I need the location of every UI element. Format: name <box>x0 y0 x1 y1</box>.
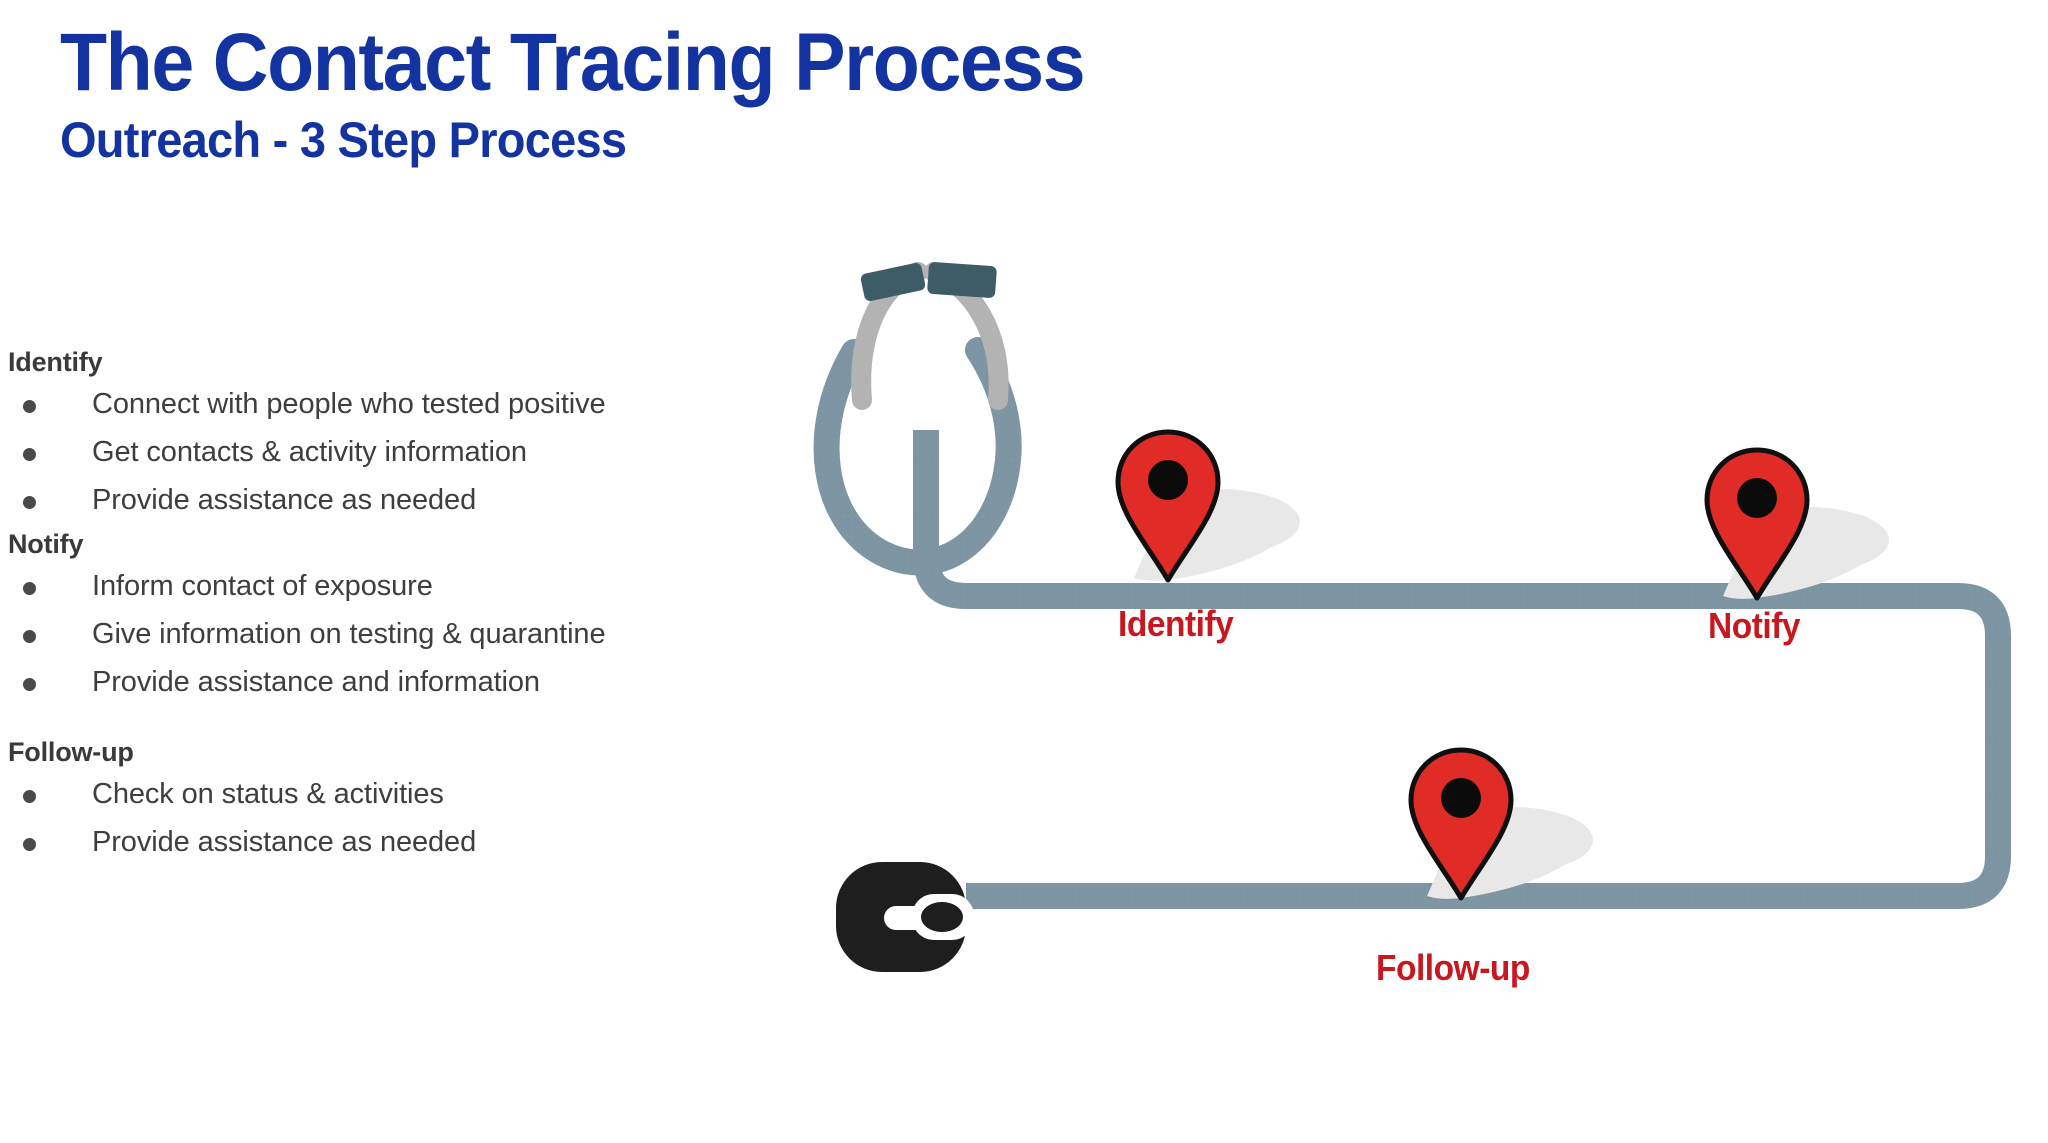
stethoscope-tube-path <box>926 430 1998 896</box>
list-item-label: Check on status & activities <box>92 773 444 816</box>
list-item: Check on status & activities <box>8 773 768 816</box>
bullet-icon <box>8 480 50 523</box>
map-pin-notify[interactable] <box>1707 450 1889 599</box>
step-heading-notify: Notify <box>8 527 768 561</box>
page-subtitle: Outreach - 3 Step Process <box>60 112 1470 168</box>
step-heading-follow-up: Follow-up <box>8 735 768 769</box>
marker-label-notify: Notify <box>1708 606 1800 646</box>
bullet-icon <box>8 566 50 609</box>
step-group-notify: Notify Inform contact of exposure Give i… <box>8 527 768 704</box>
list-item-label: Inform contact of exposure <box>92 565 433 608</box>
list-item-label: Give information on testing & quarantine <box>92 613 605 656</box>
map-pin-follow-up[interactable] <box>1411 750 1593 899</box>
list-item-label: Provide assistance and information <box>92 661 540 704</box>
bullet-icon <box>8 822 50 865</box>
bullet-icon <box>8 774 50 817</box>
bullet-icon <box>8 614 50 657</box>
marker-label-identify: Identify <box>1118 604 1233 644</box>
title-block: The Contact Tracing Process Outreach - 3… <box>60 20 1560 168</box>
stethoscope-icon <box>827 262 1009 563</box>
list-item: Connect with people who tested positive <box>8 383 768 426</box>
list-item: Provide assistance as needed <box>8 479 768 522</box>
stethoscope-chestpiece-icon <box>836 862 974 972</box>
list-item-label: Get contacts & activity information <box>92 431 527 474</box>
bullet-icon <box>8 432 50 475</box>
list-item-label: Connect with people who tested positive <box>92 383 606 426</box>
bullet-icon <box>8 384 50 427</box>
marker-label-follow-up: Follow-up <box>1376 948 1530 988</box>
map-pin-identify[interactable] <box>1118 432 1300 581</box>
list-item: Inform contact of exposure <box>8 565 768 608</box>
list-item: Get contacts & activity information <box>8 431 768 474</box>
list-item: Provide assistance and information <box>8 661 768 704</box>
step-group-identify: Identify Connect with people who tested … <box>8 345 768 522</box>
step-heading-identify: Identify <box>8 345 768 379</box>
spacer <box>8 709 768 735</box>
step-group-follow-up: Follow-up Check on status & activities P… <box>8 735 768 864</box>
steps-list: Identify Connect with people who tested … <box>8 345 768 869</box>
list-item: Provide assistance as needed <box>8 821 768 864</box>
page-title: The Contact Tracing Process <box>60 20 1470 106</box>
stethoscope-eartip-right-icon <box>927 262 997 299</box>
bullet-icon <box>8 662 50 705</box>
stethoscope-eartip-left-icon <box>860 262 926 302</box>
list-item: Give information on testing & quarantine <box>8 613 768 656</box>
list-item-label: Provide assistance as needed <box>92 479 476 522</box>
list-item-label: Provide assistance as needed <box>92 821 476 864</box>
